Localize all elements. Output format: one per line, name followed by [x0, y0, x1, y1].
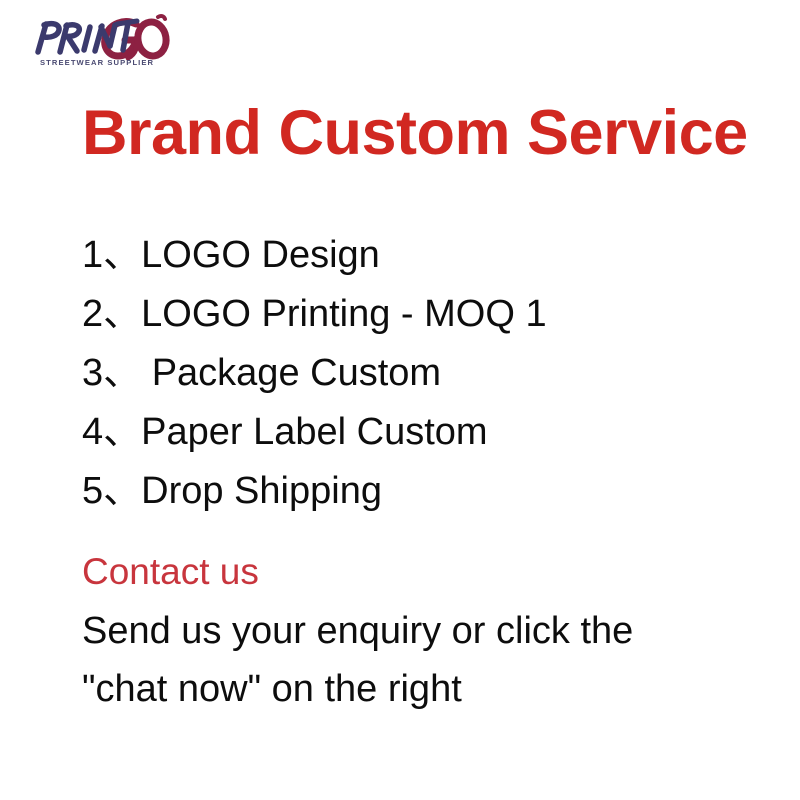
- promo-banner: STREETWEAR SUPPLIER Brand Custom Service…: [0, 0, 800, 800]
- logo-tagline-text: STREETWEAR SUPPLIER: [40, 58, 154, 67]
- brand-logo: STREETWEAR SUPPLIER: [24, 8, 174, 70]
- service-list: 1、LOGO Design 2、LOGO Printing - MOQ 1 3、…: [82, 226, 547, 521]
- list-item: 3、 Package Custom: [82, 344, 547, 403]
- logo-print-wordmark: [38, 21, 137, 52]
- page-title: Brand Custom Service: [82, 96, 748, 170]
- list-item: 5、Drop Shipping: [82, 462, 547, 521]
- contact-line: Send us your enquiry or click the: [82, 602, 782, 660]
- brand-logo-artwork: STREETWEAR SUPPLIER: [24, 8, 174, 70]
- contact-line: "chat now" on the right: [82, 660, 782, 718]
- contact-instructions: Send us your enquiry or click the "chat …: [82, 602, 782, 718]
- list-item: 1、LOGO Design: [82, 226, 547, 285]
- list-item: 2、LOGO Printing - MOQ 1: [82, 285, 547, 344]
- contact-heading: Contact us: [82, 549, 259, 595]
- list-item: 4、Paper Label Custom: [82, 403, 547, 462]
